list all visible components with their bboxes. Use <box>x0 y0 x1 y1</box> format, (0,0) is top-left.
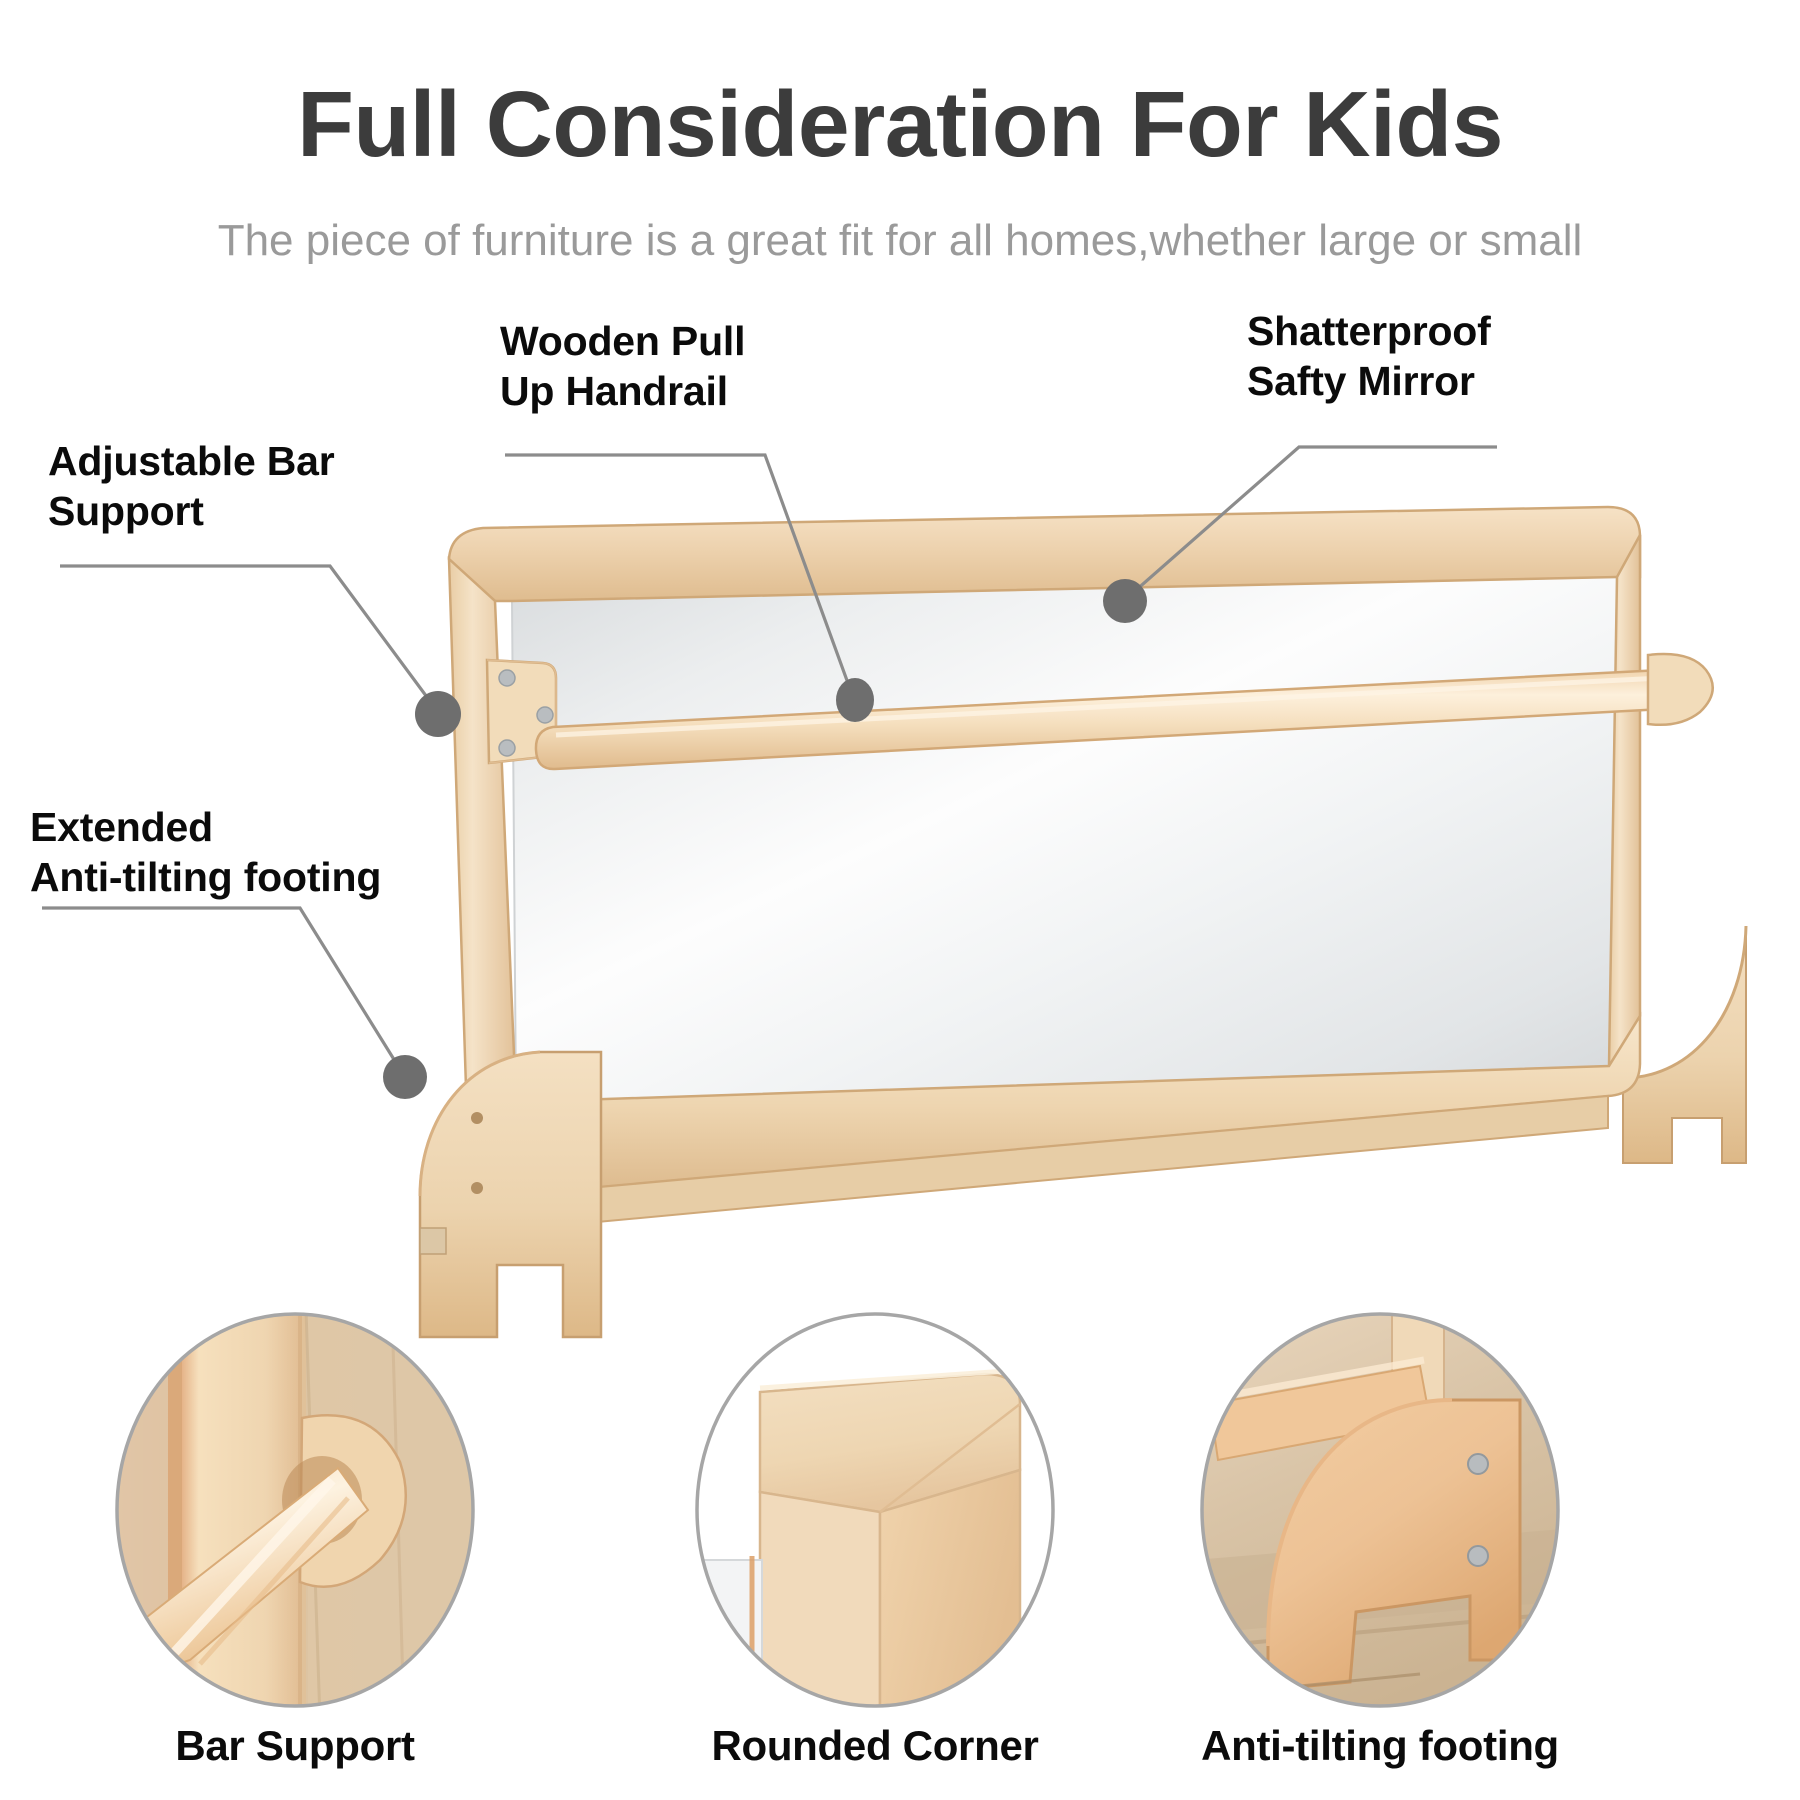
shatterproof-mirror-panel <box>512 577 1617 1102</box>
detail-caption-rounded-corner: Rounded Corner <box>655 1722 1095 1770</box>
leader-line-extended-anti-tilting-footing <box>42 908 403 1074</box>
bracket-screw-bottom <box>499 740 515 756</box>
callout-dot-adjustable-bar-support <box>415 691 461 737</box>
foot-screw-bottom <box>471 1182 483 1194</box>
callout-dot-extended-anti-tilting-footing <box>383 1055 427 1099</box>
right-anti-tilting-foot <box>1623 926 1746 1163</box>
left-anti-tilting-foot <box>420 1052 601 1337</box>
detail-caption-anti-tilting-footing: Anti-tilting footing <box>1160 1722 1600 1770</box>
detail-photos-row: Bar Support Rounded Corner Anti-tilting … <box>0 1310 1800 1800</box>
leader-line-adjustable-bar-support <box>60 566 438 712</box>
bracket-screw-top <box>499 670 515 686</box>
callout-dot-wooden-pull-up-handrail <box>836 678 874 722</box>
foot-notch <box>420 1228 446 1254</box>
bracket-screw-right <box>537 707 553 723</box>
right-bar-support-bracket <box>1648 654 1713 725</box>
callout-dot-shatterproof-safty-mirror <box>1103 579 1147 623</box>
product-mirror-assembly <box>420 507 1746 1337</box>
detail-caption-bar-support: Bar Support <box>75 1722 515 1770</box>
foot-screw-top <box>471 1112 483 1124</box>
